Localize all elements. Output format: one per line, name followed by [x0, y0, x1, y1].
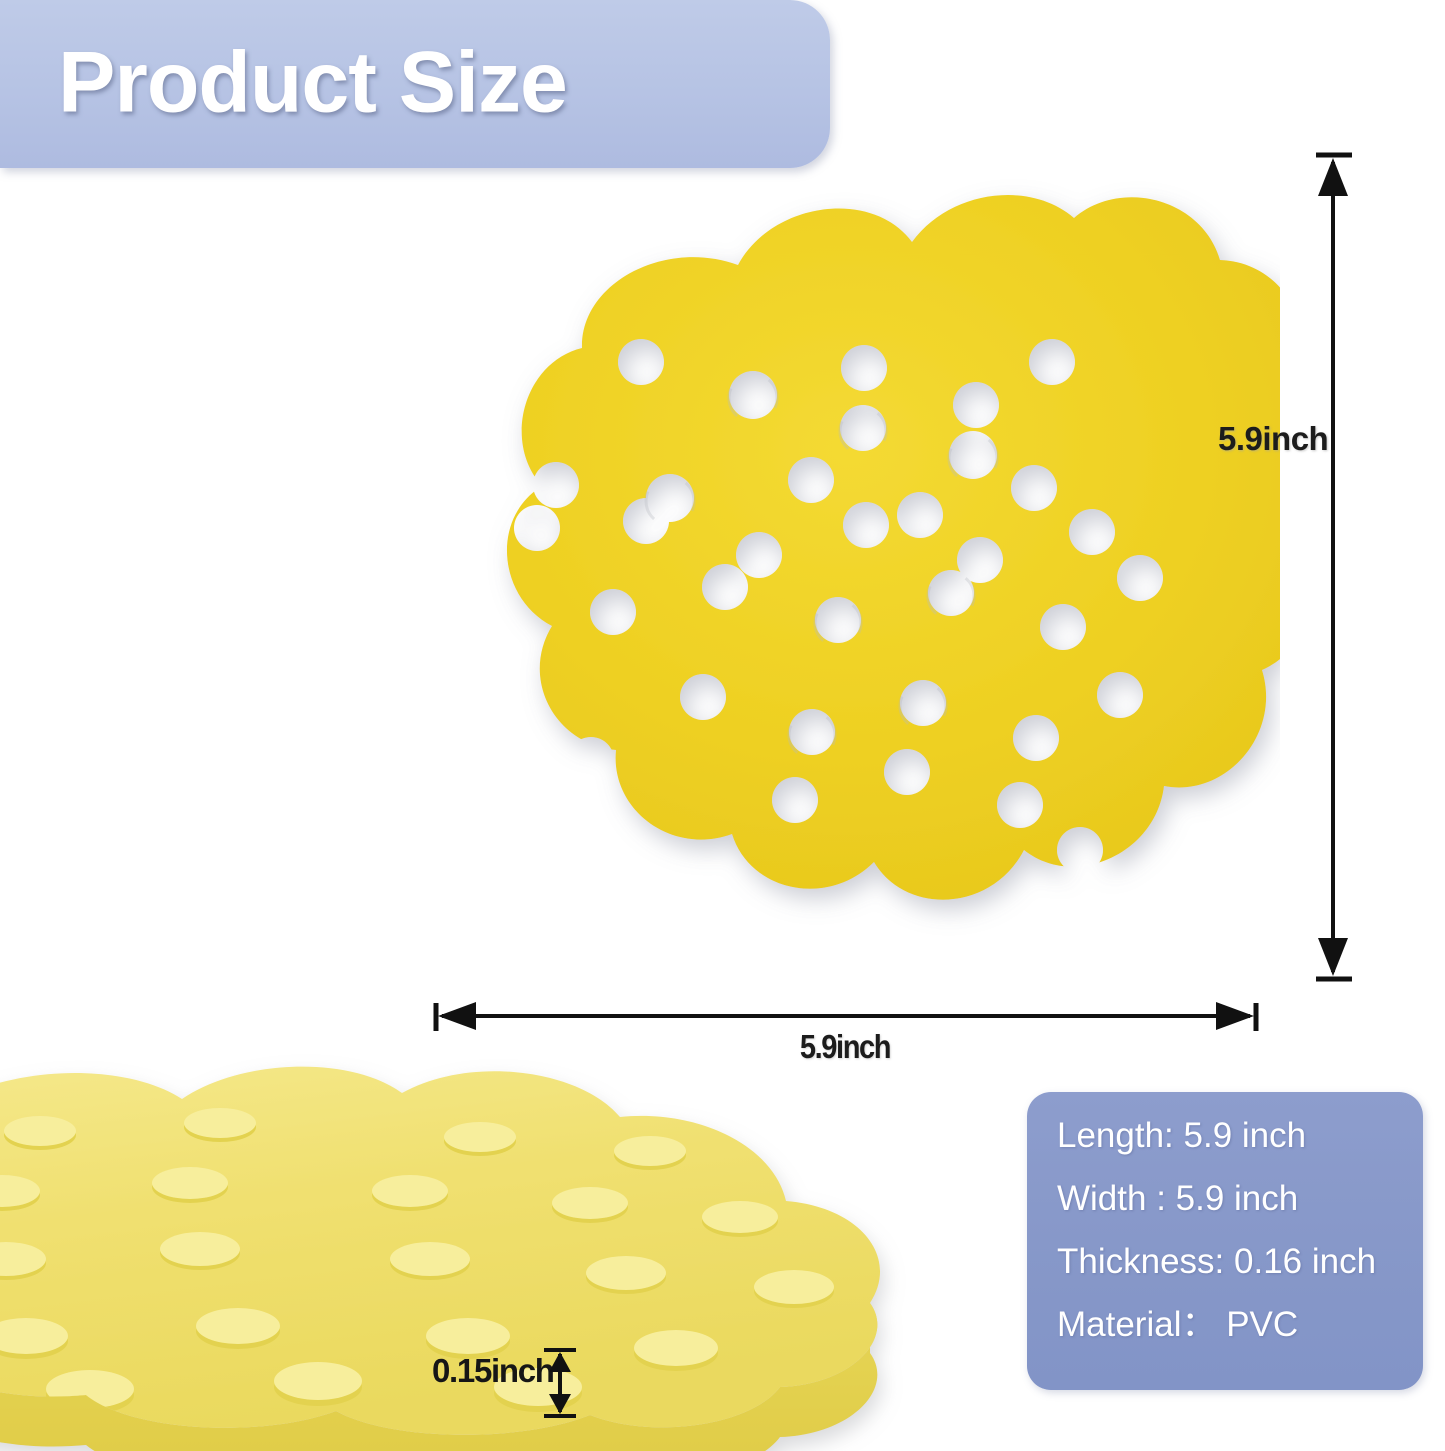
product-size-infographic: Product Size	[0, 0, 1445, 1451]
spec-width: Width : 5.9 inch	[1057, 1181, 1423, 1216]
height-dimension-line	[1296, 140, 1376, 1000]
height-dimension-label: 5.9inch	[1218, 420, 1328, 458]
thickness-dimension-arrow	[540, 1344, 580, 1422]
specification-box: Length: 5.9 inch Width : 5.9 inch Thickn…	[1027, 1092, 1423, 1390]
spec-material: Material： PVC	[1057, 1307, 1423, 1342]
header-banner: Product Size	[0, 0, 830, 168]
spec-length: Length: 5.9 inch	[1057, 1118, 1423, 1153]
thickness-dimension-label: 0.15inch	[432, 1352, 554, 1390]
product-top-view-image	[420, 150, 1280, 1010]
page-title: Product Size	[58, 39, 567, 125]
spec-thickness: Thickness: 0.16 inch	[1057, 1244, 1423, 1279]
